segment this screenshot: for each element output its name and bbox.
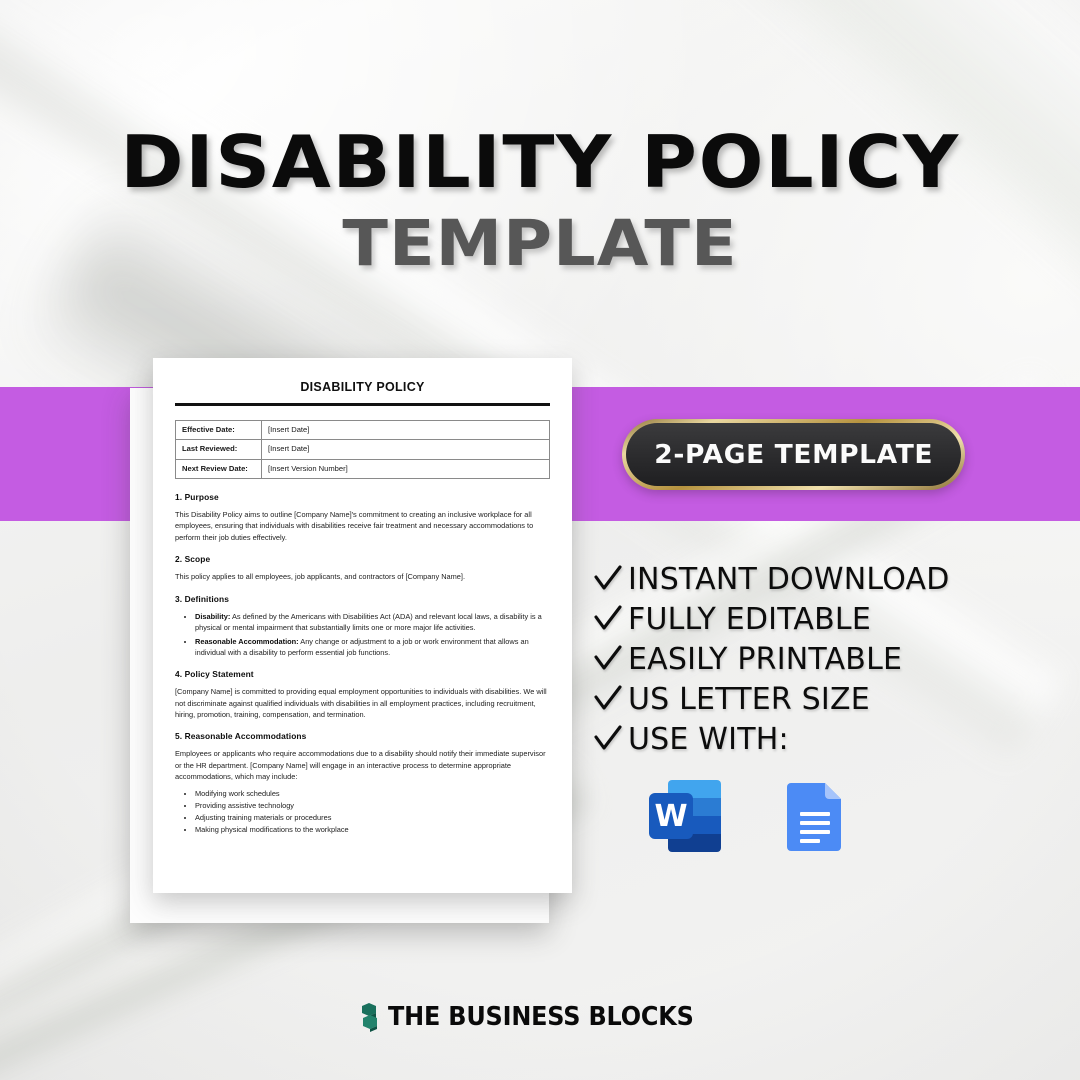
list-item: Modifying work schedules [195, 788, 550, 799]
feature-item: INSTANT DOWNLOAD [588, 560, 950, 598]
definition-term: Disability: [195, 612, 230, 621]
accommodations-list: Modifying work schedules Providing assis… [195, 788, 550, 835]
section-heading: 1. Purpose [175, 492, 550, 502]
document-preview[interactable]: DISABILITY POLICY Effective Date: [Inser… [153, 358, 572, 893]
compatible-apps: W [643, 774, 857, 858]
list-item: Adjusting training materials or procedur… [195, 812, 550, 823]
meta-value: [Insert Version Number] [262, 459, 550, 478]
list-item: Disability: As defined by the Americans … [195, 611, 550, 633]
badge-inner: 2-PAGE TEMPLATE [626, 423, 961, 486]
definition-term: Reasonable Accommodation: [195, 637, 299, 646]
page-count-badge: 2-PAGE TEMPLATE [622, 419, 965, 490]
feature-label: FULLY EDITABLE [628, 602, 871, 637]
check-icon [588, 604, 628, 634]
feature-item: FULLY EDITABLE [588, 600, 950, 638]
feature-label: USE WITH: [628, 722, 789, 757]
meta-label: Effective Date: [176, 421, 262, 440]
section-body: This policy applies to all employees, jo… [175, 571, 550, 582]
check-icon [588, 564, 628, 594]
check-icon [588, 724, 628, 754]
table-row: Next Review Date: [Insert Version Number… [176, 459, 550, 478]
section-heading: 5. Reasonable Accommodations [175, 731, 550, 741]
blocks-logo-icon [360, 1002, 379, 1032]
feature-label: INSTANT DOWNLOAD [628, 562, 950, 597]
table-row: Effective Date: [Insert Date] [176, 421, 550, 440]
list-item: Making physical modifications to the wor… [195, 824, 550, 835]
table-row: Last Reviewed: [Insert Date] [176, 440, 550, 459]
brand-name: THE BUSINESS BLOCKS [388, 1002, 694, 1032]
meta-value: [Insert Date] [262, 440, 550, 459]
title-line-secondary: TEMPLATE [0, 212, 1080, 275]
document-meta-table: Effective Date: [Insert Date] Last Revie… [175, 420, 550, 479]
section-heading: 4. Policy Statement [175, 669, 550, 679]
section-body: This Disability Policy aims to outline [… [175, 509, 550, 543]
feature-list: INSTANT DOWNLOAD FULLY EDITABLE EASILY P… [588, 560, 950, 760]
microsoft-word-icon: W [643, 774, 727, 858]
definition-text: As defined by the Americans with Disabil… [195, 612, 542, 632]
feature-item: USE WITH: [588, 720, 950, 758]
footer-logo: THE BUSINESS BLOCKS [0, 1002, 1080, 1032]
document-heading-rule [175, 403, 550, 406]
check-icon [588, 644, 628, 674]
google-docs-icon [773, 774, 857, 858]
section-heading: 2. Scope [175, 554, 550, 564]
title-line-primary: DISABILITY POLICY [0, 126, 1080, 198]
svg-text:W: W [654, 799, 687, 834]
definitions-list: Disability: As defined by the Americans … [195, 611, 550, 658]
badge-label: 2-PAGE TEMPLATE [654, 440, 933, 470]
feature-item: US LETTER SIZE [588, 680, 950, 718]
section-heading: 3. Definitions [175, 594, 550, 604]
section-body: Employees or applicants who require acco… [175, 748, 550, 782]
list-item: Reasonable Accommodation: Any change or … [195, 636, 550, 658]
feature-label: US LETTER SIZE [628, 682, 870, 717]
feature-label: EASILY PRINTABLE [628, 642, 902, 677]
feature-item: EASILY PRINTABLE [588, 640, 950, 678]
section-body: [Company Name] is committed to providing… [175, 686, 550, 720]
meta-label: Next Review Date: [176, 459, 262, 478]
list-item: Providing assistive technology [195, 800, 550, 811]
document-heading: DISABILITY POLICY [175, 380, 550, 403]
meta-value: [Insert Date] [262, 421, 550, 440]
meta-label: Last Reviewed: [176, 440, 262, 459]
check-icon [588, 684, 628, 714]
page-title: DISABILITY POLICY TEMPLATE [0, 126, 1080, 275]
